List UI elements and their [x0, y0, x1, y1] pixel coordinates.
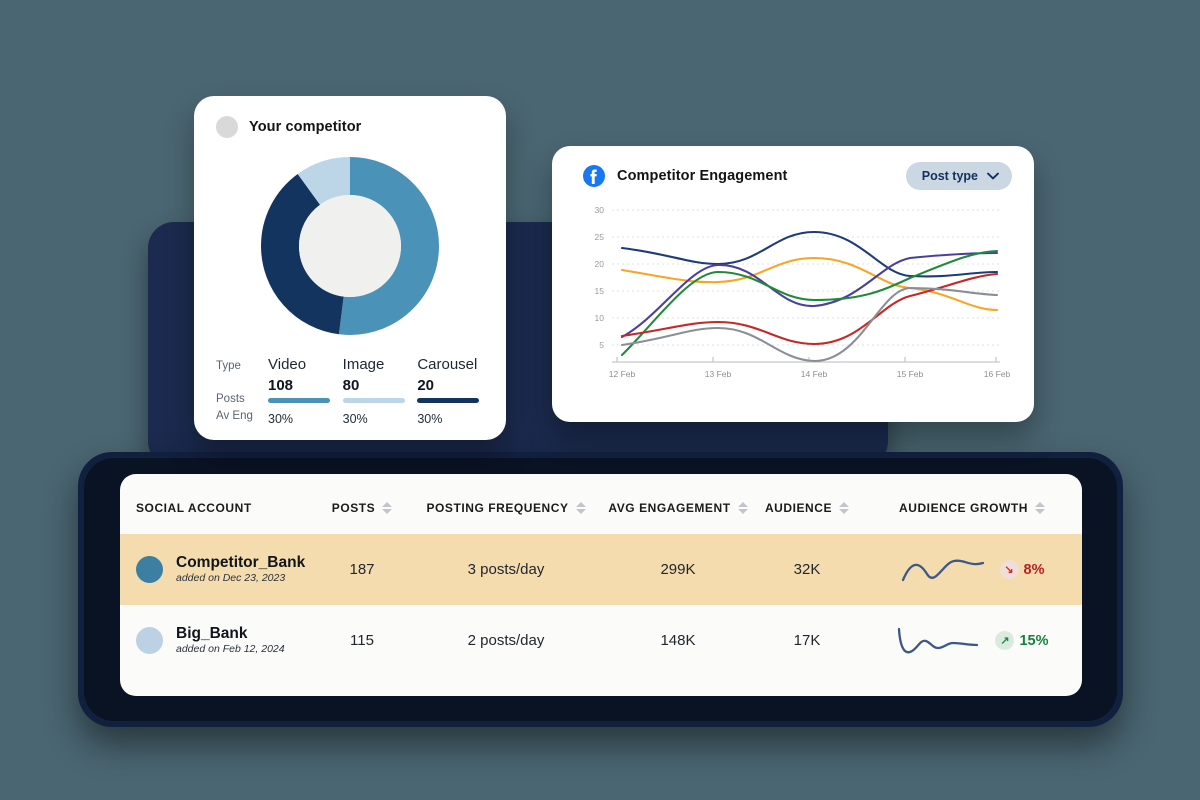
- sort-icon-posts[interactable]: [382, 502, 392, 514]
- svg-text:5: 5: [599, 340, 604, 350]
- column-header-audience[interactable]: AUDIENCE: [752, 501, 862, 515]
- stats-bar-video: [268, 398, 330, 403]
- stats-type-carousel: Carousel: [417, 356, 492, 376]
- chevron-down-icon: [987, 172, 999, 180]
- account-avatar: [136, 627, 163, 654]
- growth-sparkline: [900, 553, 986, 587]
- svg-text:25: 25: [595, 232, 605, 242]
- donut-hole: [299, 195, 401, 297]
- competitor-breakdown-card: Your competitor Type Video Image Carouse…: [194, 96, 506, 440]
- line-chart-svg: 30 25 20 15 10 5 12 Feb 13 Fe: [560, 196, 1018, 386]
- account-added-date: added on Feb 12, 2024: [176, 643, 285, 657]
- chart-series-lines: [622, 232, 997, 361]
- account-avatar: [136, 556, 163, 583]
- stats-posts-video: 108: [268, 377, 343, 409]
- table-row[interactable]: Competitor_Bank added on Dec 23, 2023 18…: [120, 534, 1082, 605]
- stats-bar-image: [343, 398, 405, 403]
- series-line-4: [622, 251, 997, 355]
- svg-text:10: 10: [595, 313, 605, 323]
- growth-value: 8%: [1024, 562, 1045, 578]
- svg-text:15 Feb: 15 Feb: [897, 369, 924, 379]
- chart-y-tick-labels: 30 25 20 15 10 5: [595, 205, 605, 350]
- stats-label-posts: Posts: [216, 393, 268, 409]
- cell-avg-engagement: 148K: [604, 632, 752, 649]
- cell-audience: 32K: [752, 561, 862, 578]
- stats-aveng-carousel: 30%: [417, 412, 492, 426]
- post-type-filter-button[interactable]: Post type: [906, 162, 1012, 190]
- engagement-card-header: Competitor Engagement Post type: [552, 146, 1034, 190]
- account-cell[interactable]: Competitor_Bank added on Dec 23, 2023: [120, 554, 316, 585]
- facebook-icon: [582, 164, 606, 188]
- donut-card-title: Your competitor: [249, 119, 361, 135]
- svg-text:30: 30: [595, 205, 605, 215]
- stats-type-image: Image: [343, 356, 418, 376]
- growth-badge: ↘ 8%: [1000, 560, 1045, 579]
- post-type-stats: Type Video Image Carousel Posts 108 80 2…: [216, 356, 492, 426]
- table-row[interactable]: Big_Bank added on Feb 12, 2024 115 2 pos…: [120, 605, 1082, 676]
- arrow-up-right-icon: ↗: [995, 631, 1014, 650]
- competitor-engagement-card: Competitor Engagement Post type: [552, 146, 1034, 422]
- svg-text:12 Feb: 12 Feb: [609, 369, 636, 379]
- growth-sparkline: [895, 624, 981, 658]
- cell-avg-engagement: 299K: [604, 561, 752, 578]
- donut-chart: [194, 146, 506, 346]
- growth-badge: ↗ 15%: [995, 631, 1048, 650]
- engagement-line-chart: 30 25 20 15 10 5 12 Feb 13 Fe: [552, 190, 1034, 391]
- svg-text:15: 15: [595, 286, 605, 296]
- column-header-social-account[interactable]: SOCIAL ACCOUNT: [120, 501, 316, 515]
- column-header-posts[interactable]: POSTS: [316, 501, 408, 515]
- stats-bar-carousel: [417, 398, 479, 403]
- cell-posts: 115: [316, 632, 408, 649]
- svg-text:14 Feb: 14 Feb: [801, 369, 828, 379]
- stats-aveng-image: 30%: [343, 412, 418, 426]
- cell-posting-frequency: 3 posts/day: [408, 561, 604, 578]
- competitor-avatar-icon: [216, 116, 238, 138]
- donut-svg: [250, 146, 450, 346]
- column-header-avg-engagement[interactable]: AVG ENGAGEMENT: [604, 501, 752, 515]
- sort-icon-audience-growth[interactable]: [1035, 502, 1045, 514]
- series-line-1: [622, 232, 997, 276]
- svg-text:20: 20: [595, 259, 605, 269]
- cell-posts: 187: [316, 561, 408, 578]
- chart-x-tick-labels: 12 Feb 13 Feb 14 Feb 15 Feb 16 Feb: [609, 369, 1011, 379]
- stats-posts-image: 80: [343, 377, 418, 409]
- engagement-card-title: Competitor Engagement: [617, 168, 787, 184]
- table-header-row: SOCIAL ACCOUNT POSTS POSTING FREQUENCY A…: [120, 474, 1082, 534]
- stats-type-video: Video: [268, 356, 343, 376]
- column-header-posting-frequency[interactable]: POSTING FREQUENCY: [408, 501, 604, 515]
- stats-label-type: Type: [216, 360, 268, 376]
- account-cell[interactable]: Big_Bank added on Feb 12, 2024: [120, 625, 316, 656]
- competitors-table: SOCIAL ACCOUNT POSTS POSTING FREQUENCY A…: [120, 474, 1082, 696]
- cell-posting-frequency: 2 posts/day: [408, 632, 604, 649]
- donut-card-header: Your competitor: [194, 96, 506, 138]
- account-added-date: added on Dec 23, 2023: [176, 572, 305, 586]
- sort-icon-audience[interactable]: [839, 502, 849, 514]
- sort-icon-avg-engagement[interactable]: [738, 502, 748, 514]
- cell-audience-growth: ↘ 8%: [862, 553, 1082, 587]
- account-name: Competitor_Bank: [176, 554, 305, 572]
- svg-text:13 Feb: 13 Feb: [705, 369, 732, 379]
- stats-posts-carousel: 20: [417, 377, 492, 409]
- arrow-down-right-icon: ↘: [1000, 560, 1019, 579]
- column-header-audience-growth[interactable]: AUDIENCE GROWTH: [862, 501, 1082, 515]
- sort-icon-posting-frequency[interactable]: [576, 502, 586, 514]
- account-name: Big_Bank: [176, 625, 285, 643]
- post-type-filter-label: Post type: [922, 169, 978, 183]
- cell-audience-growth: ↗ 15%: [862, 624, 1082, 658]
- growth-value: 15%: [1019, 633, 1048, 649]
- svg-text:16 Feb: 16 Feb: [984, 369, 1011, 379]
- stats-aveng-video: 30%: [268, 412, 343, 426]
- screenshot-stage: Your competitor Type Video Image Carouse…: [0, 0, 1200, 800]
- cell-audience: 17K: [752, 632, 862, 649]
- stats-label-aveng: Av Eng: [216, 410, 268, 426]
